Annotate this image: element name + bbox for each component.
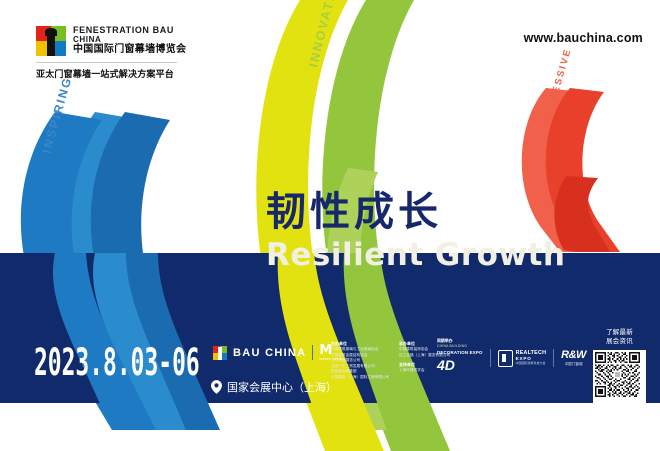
logo-tagline: 亚太门窗幕墙一站式解决方案平台 bbox=[36, 62, 177, 80]
website-url[interactable]: www.bauchina.com bbox=[524, 31, 643, 45]
brand-name: BAU CHINA bbox=[233, 347, 306, 359]
bau-china-logo-icon bbox=[213, 346, 227, 360]
event-date: 2023.8.03-06 bbox=[34, 341, 200, 384]
qr-code-icon[interactable] bbox=[593, 350, 646, 403]
qr-block[interactable]: 了解最新 展会资讯 bbox=[593, 329, 646, 403]
organizer-columns: 主办单位 中国建筑玻璃与工业玻璃协会 中国建筑金属结构协会 法兰克福展览公司 北… bbox=[331, 341, 451, 380]
partner-divider bbox=[490, 349, 491, 367]
rw-line1: R&W bbox=[561, 350, 586, 361]
china-building-decoration-expo-logo-icon[interactable]: CHINA BUILDING DECORATION EXPO 4D bbox=[437, 345, 483, 371]
brand-row: BAU CHINA M messe frankfurt bbox=[213, 344, 346, 361]
location-pin-icon bbox=[211, 380, 222, 394]
logo-door-shape bbox=[47, 29, 55, 56]
event-logo-block: FENESTRATION BAU CHINA 中国国际门窗幕墙博览会 亚太门窗幕… bbox=[36, 26, 186, 80]
logo-chinese-name: 中国国际门窗幕墙博览会 bbox=[73, 45, 186, 56]
venue-name: 国家会展中心（上海） bbox=[227, 379, 337, 395]
partner-logos: CHINA BUILDING DECORATION EXPO 4D REALTE… bbox=[437, 345, 586, 371]
realtech-line3: 中国国际建筑科技大会 bbox=[516, 362, 547, 365]
rw-logo-icon[interactable]: R&W 中国门窗城 bbox=[561, 350, 586, 366]
headline-chinese: 韧性成长 bbox=[266, 192, 566, 232]
venue-row: 国家会展中心（上海） bbox=[211, 379, 337, 395]
headline-english: Resilient Growth bbox=[266, 240, 566, 271]
qr-code-svg bbox=[595, 352, 640, 397]
partner-divider bbox=[553, 349, 554, 367]
rw-line2: 中国门窗城 bbox=[565, 363, 583, 367]
headline-block: 韧性成长 Resilient Growth bbox=[266, 192, 566, 271]
logo-row: FENESTRATION BAU CHINA 中国国际门窗幕墙博览会 bbox=[36, 26, 186, 56]
realtech-text-group: REALTECH EXPO 中国国际建筑科技大会 bbox=[516, 351, 547, 365]
organizer-column-main: 主办单位 中国建筑玻璃与工业玻璃协会 中国建筑金属结构协会 法兰克福展览公司 北… bbox=[331, 341, 399, 380]
cbd-mid-text: DECORATION EXPO bbox=[437, 351, 483, 355]
logo-text-group: FENESTRATION BAU CHINA 中国国际门窗幕墙博览会 bbox=[73, 26, 186, 56]
brand-divider bbox=[312, 345, 313, 360]
mini-door-shape bbox=[218, 347, 222, 359]
qr-caption-line2: 展会资讯 bbox=[606, 338, 633, 347]
realtech-glyph bbox=[498, 350, 513, 367]
cbd-top-text: CHINA BUILDING bbox=[437, 345, 467, 348]
realtech-expo-logo-icon[interactable]: REALTECH EXPO 中国国际建筑科技大会 bbox=[498, 350, 547, 367]
poster-canvas: INSPIRING INNOVATIVE IMPRESSIVE FENESTR bbox=[0, 0, 660, 451]
organizer-item: 中国建筑（上海）国际工程有限公司 bbox=[331, 375, 399, 381]
qr-caption-line1: 了解最新 bbox=[606, 329, 633, 338]
fenestration-bau-china-logo-icon bbox=[36, 26, 66, 56]
cbd-big-text: 4D bbox=[437, 359, 455, 372]
